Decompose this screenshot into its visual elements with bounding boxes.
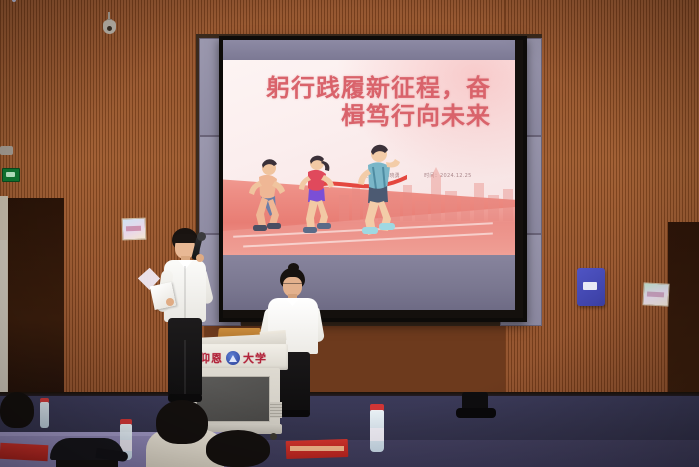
podium-institution-right: 大学 <box>243 350 267 366</box>
bottle-label <box>370 428 384 441</box>
slide-title-line-1: 躬行践履新征程，奋 <box>266 74 491 102</box>
blue-wall-panel <box>577 268 605 306</box>
podium-vent <box>270 402 282 418</box>
speaker-with-microphone <box>156 228 214 408</box>
smoke-detector-icon <box>0 146 13 155</box>
audience-head <box>0 392 34 428</box>
auditorium-scene: 躬行践履新征程，奋 楫笃行向未来 汇报人：郑晓勇 时间：2024.12.25 <box>0 0 699 467</box>
left-doorway[interactable] <box>6 198 64 400</box>
security-camera-icon <box>103 20 116 34</box>
trouser-seam <box>184 340 186 396</box>
university-emblem-icon <box>226 351 240 365</box>
hair-fringe <box>173 234 197 243</box>
runner-illustration <box>245 159 289 237</box>
slide-title-line-2: 楫笃行向未来 <box>223 102 491 130</box>
microphone-head-icon <box>197 232 206 241</box>
audience-head <box>156 400 208 444</box>
glasses-icon <box>283 283 302 288</box>
red-package[interactable] <box>0 443 48 461</box>
podium-caster <box>270 433 277 440</box>
slide-title: 躬行践履新征程，奋 楫笃行向未来 <box>223 74 491 131</box>
hand-holding-paper <box>166 298 174 306</box>
exit-sign-icon <box>2 168 20 182</box>
hand-holding-microphone <box>196 254 204 262</box>
wall-poster-right <box>642 282 669 306</box>
runner-illustration <box>353 143 405 237</box>
presentation-slide: 躬行践履新征程，奋 楫笃行向未来 汇报人：郑晓勇 时间：2024.12.25 <box>223 60 515 255</box>
water-bottle[interactable] <box>40 402 49 428</box>
blue-panel-label <box>583 282 597 290</box>
runner-illustration <box>295 153 339 237</box>
red-package-band <box>290 446 344 451</box>
audience-head <box>206 430 270 467</box>
foreground-person-shoe <box>456 408 496 418</box>
wall-poster-left <box>122 218 147 241</box>
right-doorway[interactable] <box>668 222 699 400</box>
left-door-opening <box>0 240 7 400</box>
shirt-placket <box>184 266 186 318</box>
script-paper <box>150 282 177 310</box>
screen-top-strip <box>223 40 515 60</box>
